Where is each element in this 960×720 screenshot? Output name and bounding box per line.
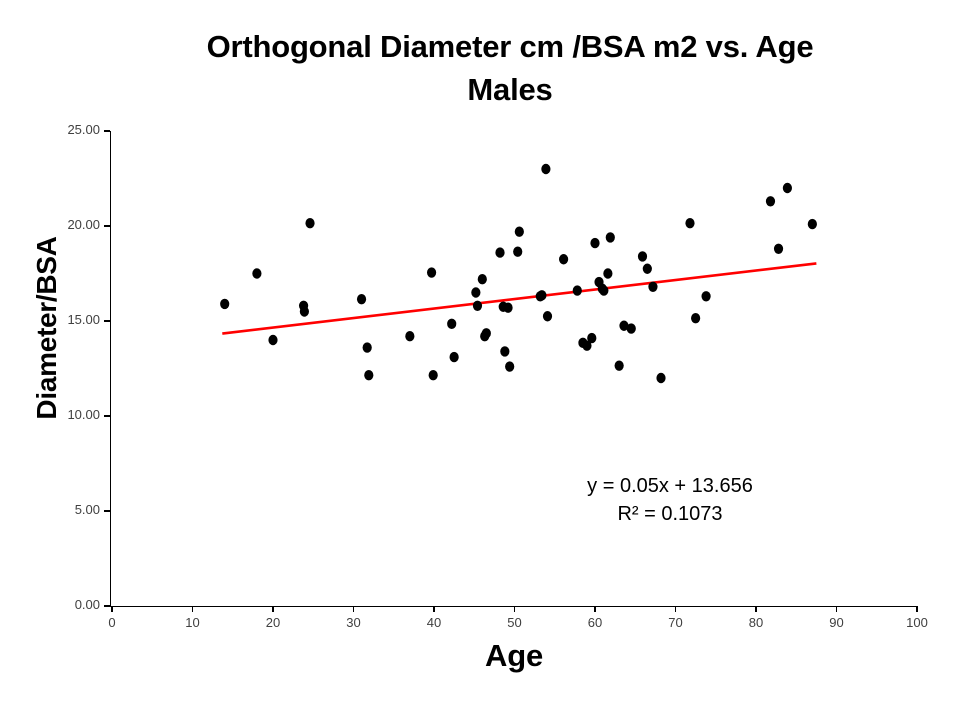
x-tick-mark [353, 606, 354, 612]
data-point [471, 287, 480, 297]
x-tick-label: 80 [726, 615, 786, 630]
data-point [364, 370, 373, 380]
data-point [305, 218, 314, 228]
x-tick-mark [755, 606, 756, 612]
data-point [603, 268, 612, 278]
data-point [685, 218, 694, 228]
chart-title: Orthogonal Diameter cm /BSA m2 vs. Age M… [110, 26, 910, 112]
data-point [701, 291, 710, 301]
x-tick-mark [836, 606, 837, 612]
y-tick-mark [104, 415, 110, 416]
data-point [627, 323, 636, 333]
y-tick-mark [104, 320, 110, 321]
data-point [587, 333, 596, 343]
chart-slide: Orthogonal Diameter cm /BSA m2 vs. Age M… [0, 0, 960, 720]
y-tick-label: 0.00 [30, 597, 100, 612]
x-tick-mark [514, 606, 515, 612]
data-point [774, 244, 783, 254]
data-point [691, 313, 700, 323]
x-tick-label: 20 [243, 615, 303, 630]
x-tick-mark [675, 606, 676, 612]
data-point [513, 246, 522, 256]
x-tick-label: 50 [485, 615, 545, 630]
data-point [482, 328, 491, 338]
y-tick-mark [104, 605, 110, 606]
data-point [573, 285, 582, 295]
x-tick-mark [111, 606, 112, 612]
data-point [643, 264, 652, 274]
data-point [357, 294, 366, 304]
data-point [473, 301, 482, 311]
x-tick-label: 90 [807, 615, 867, 630]
y-tick-mark [104, 225, 110, 226]
r-squared-value: R² = 0.1073 [480, 500, 860, 528]
y-tick-mark [104, 510, 110, 511]
trendline [222, 263, 816, 333]
data-point [300, 306, 309, 316]
x-tick-label: 40 [404, 615, 464, 630]
data-point [766, 196, 775, 206]
data-point [783, 183, 792, 193]
x-tick-label: 100 [887, 615, 947, 630]
x-tick-label: 30 [324, 615, 384, 630]
scatter-plot-svg [112, 131, 917, 606]
data-point [495, 247, 504, 257]
x-tick-mark [916, 606, 917, 612]
x-tick-label: 70 [646, 615, 706, 630]
data-point [427, 267, 436, 277]
data-point [599, 285, 608, 295]
x-tick-mark [272, 606, 273, 612]
data-point [447, 319, 456, 329]
regression-annotation: y = 0.05x + 13.656 R² = 0.1073 [480, 472, 860, 529]
data-point [505, 361, 514, 371]
data-point [590, 238, 599, 248]
data-point [429, 370, 438, 380]
y-tick-label: 25.00 [30, 122, 100, 137]
data-point [638, 251, 647, 261]
data-point [405, 331, 414, 341]
data-point [252, 268, 261, 278]
data-point [220, 299, 229, 309]
data-point [363, 342, 372, 352]
data-point [268, 335, 277, 345]
y-tick-label: 5.00 [30, 502, 100, 517]
x-tick-mark [192, 606, 193, 612]
data-point [515, 227, 524, 237]
data-point [541, 164, 550, 174]
y-tick-mark [104, 130, 110, 131]
x-tick-label: 0 [82, 615, 142, 630]
data-point [543, 311, 552, 321]
data-point [606, 232, 615, 242]
x-tick-label: 10 [163, 615, 223, 630]
data-point [503, 303, 512, 313]
regression-equation: y = 0.05x + 13.656 [480, 472, 860, 500]
y-axis-title: Diameter/BSA [31, 213, 63, 443]
plot-area [112, 131, 917, 606]
x-tick-mark [594, 606, 595, 612]
x-tick-mark [433, 606, 434, 612]
data-point [559, 254, 568, 264]
data-point [478, 274, 487, 284]
data-point [537, 290, 546, 300]
x-axis-title: Age [110, 638, 918, 674]
data-point [648, 282, 657, 292]
data-point [615, 360, 624, 370]
x-tick-label: 60 [565, 615, 625, 630]
data-point [808, 219, 817, 229]
data-point [500, 346, 509, 356]
data-point [656, 373, 665, 383]
data-point [450, 352, 459, 362]
